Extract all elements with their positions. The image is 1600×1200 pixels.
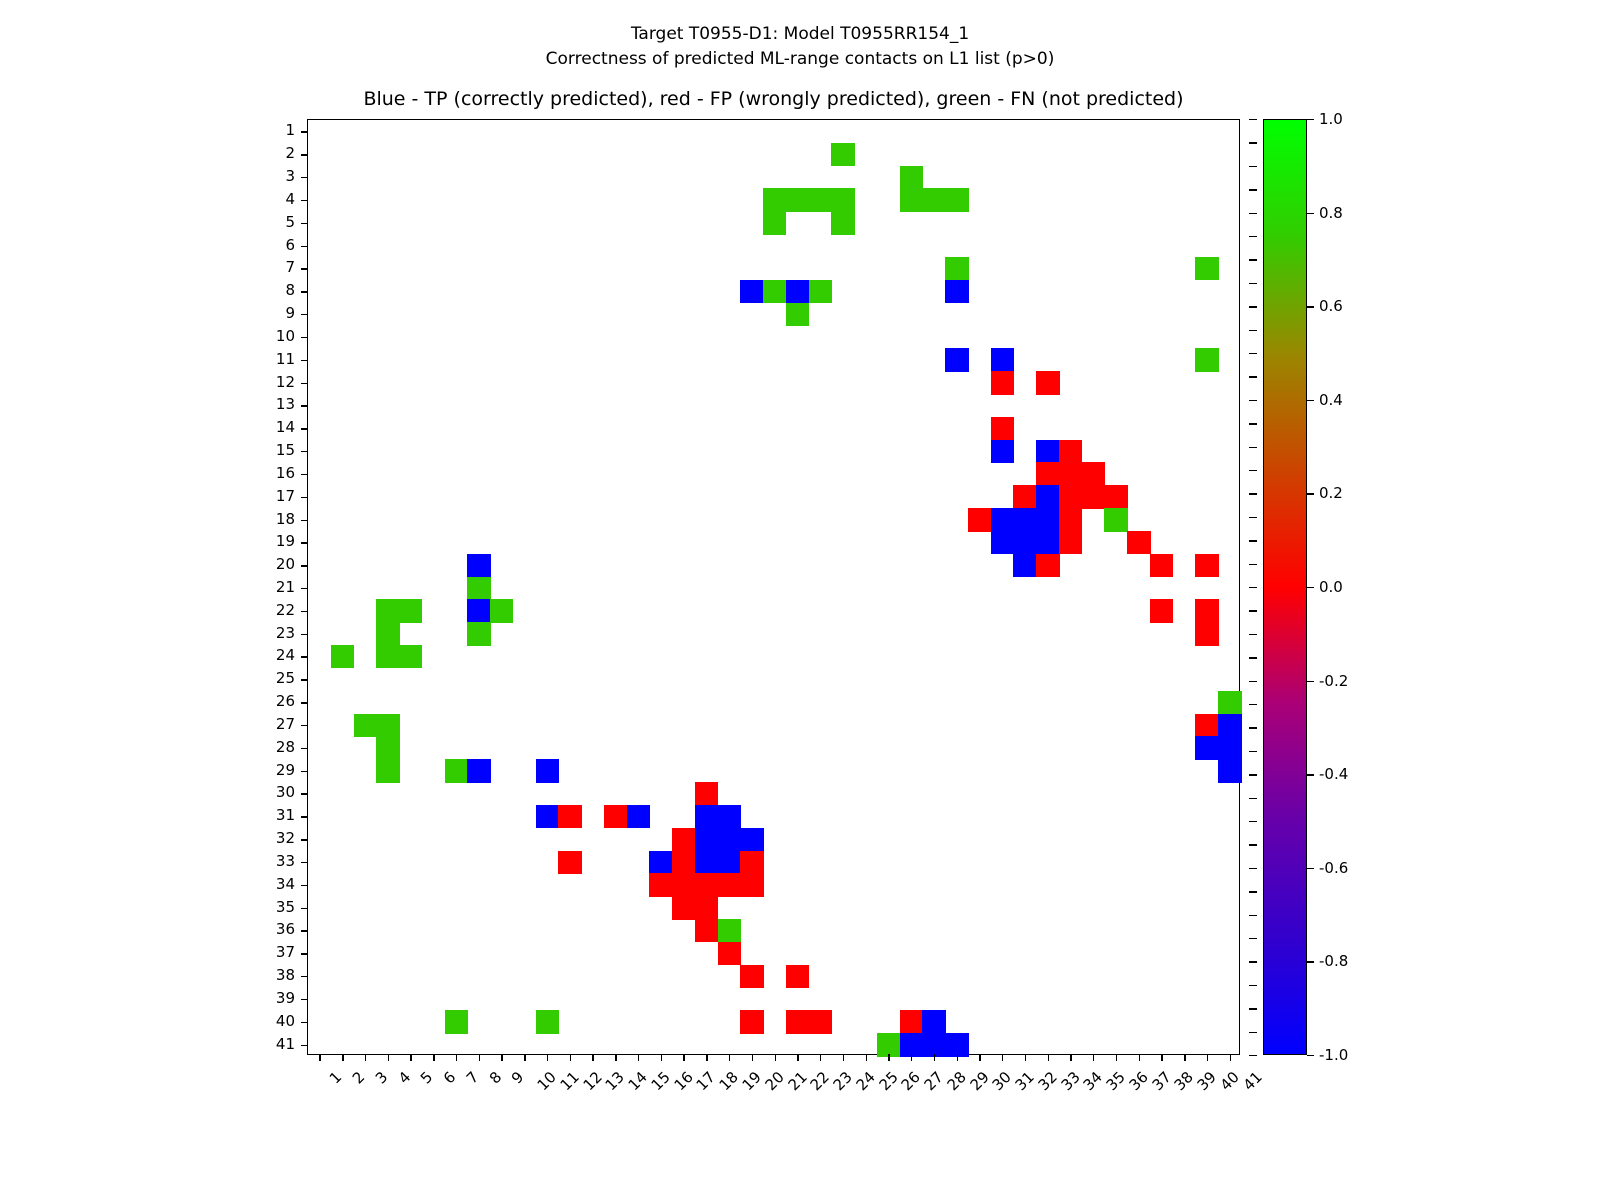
heatmap-cell [1218,736,1241,759]
x-tick [1070,1054,1071,1061]
y-tick-label: 34 [251,875,295,893]
y-tick-label: 40 [251,1012,295,1030]
y-tick [301,451,308,452]
heatmap-cell [376,714,399,737]
heatmap-cell [945,348,968,371]
x-tick-label: 6 [440,1068,459,1087]
heatmap-cell [399,599,422,622]
x-tick-label: 7 [463,1068,482,1087]
y-tick-label: 27 [251,715,295,733]
colorbar-tick-label: 1.0 [1319,110,1343,128]
minor-tick [1249,961,1257,962]
y-tick [301,611,308,612]
minor-tick [1249,891,1257,892]
heatmap-cell [354,714,377,737]
minor-tick [1249,657,1257,658]
heatmap-cell [945,188,968,211]
y-tick-label: 14 [251,418,295,436]
heatmap-cell [1059,462,1082,485]
minor-tick [1249,844,1257,845]
minor-tick [1249,259,1257,260]
x-tick [1048,1054,1049,1061]
contact-map-plot[interactable] [307,119,1240,1055]
y-tick [301,748,308,749]
heatmap-cell [1036,485,1059,508]
y-tick [301,428,308,429]
heatmap-cell [467,599,490,622]
colorbar-tick-label: 0.0 [1319,578,1343,596]
y-tick [301,999,308,1000]
x-tick [1230,1054,1231,1061]
colorbar-tick-label: 0.4 [1319,391,1343,409]
minor-tick [1249,774,1257,775]
heatmap-cell [467,759,490,782]
heatmap-cell [490,599,513,622]
y-tick-label: 17 [251,487,295,505]
x-tick [934,1054,935,1061]
minor-tick [1249,681,1257,682]
heatmap-cell [991,508,1014,531]
y-tick [301,497,308,498]
minor-tick [1249,704,1257,705]
heatmap-cell [536,805,559,828]
y-tick [301,702,308,703]
x-tick [592,1054,593,1061]
heatmap-cell [900,166,923,189]
x-tick [456,1054,457,1061]
heatmap-cell [786,303,809,326]
figure-canvas: Target T0955-D1: Model T0955RR154_1 Corr… [0,0,1600,1200]
colorbar-tick [1307,961,1314,962]
minor-tick [1249,1055,1257,1056]
heatmap-cell [604,805,627,828]
suptitle-line-2: Correctness of predicted ML-range contac… [0,47,1600,72]
heatmap-cell [740,851,763,874]
x-tick [342,1054,343,1061]
figure-suptitle: Target T0955-D1: Model T0955RR154_1 Corr… [0,22,1600,71]
heatmap-cell [740,873,763,896]
x-tick [888,1054,889,1061]
heatmap-cell [376,645,399,668]
y-tick-label: 25 [251,669,295,687]
y-tick [301,474,308,475]
y-tick-label: 33 [251,852,295,870]
heatmap-cell [763,280,786,303]
minor-tick [1249,610,1257,611]
heatmap-cell [536,759,559,782]
x-tick [797,1054,798,1061]
minor-tick [1249,447,1257,448]
x-tick-label: 1 [326,1068,345,1087]
y-tick-label: 18 [251,510,295,528]
minor-tick [1249,751,1257,752]
y-tick [301,200,308,201]
x-tick [1139,1054,1140,1061]
x-tick [775,1054,776,1061]
heatmap-cell [1195,257,1218,280]
y-tick-label: 29 [251,761,295,779]
heatmap-cell [558,851,581,874]
y-tick [301,588,308,589]
minor-tick [1249,634,1257,635]
heatmap-cell [763,188,786,211]
x-tick-label: 41 [1239,1068,1265,1094]
x-tick [1184,1054,1185,1061]
heatmap-cell [376,736,399,759]
y-tick [301,725,308,726]
y-tick [301,771,308,772]
x-tick [911,1054,912,1061]
minor-tick [1249,564,1257,565]
y-tick-label: 15 [251,441,295,459]
y-tick [301,337,308,338]
heatmap-cell [627,805,650,828]
x-tick [1002,1054,1003,1061]
x-tick [706,1054,707,1061]
x-tick-label: 4 [394,1068,413,1087]
heatmap-cell [718,873,741,896]
x-tick [615,1054,616,1061]
heatmap-cell [695,805,718,828]
heatmap-cell [1059,440,1082,463]
heatmap-cell [1127,531,1150,554]
y-tick [301,976,308,977]
heatmap-cell [1104,485,1127,508]
colorbar-tick [1307,306,1314,307]
minor-tick [1249,236,1257,237]
heatmap-cell [695,896,718,919]
heatmap-cell [922,188,945,211]
x-tick [1116,1054,1117,1061]
y-tick [301,154,308,155]
x-tick [843,1054,844,1061]
minor-tick [1249,915,1257,916]
heatmap-cell [1195,348,1218,371]
y-tick-label: 11 [251,350,295,368]
y-tick-label: 30 [251,783,295,801]
heatmap-cell [331,645,354,668]
colorbar-tick-label: 0.6 [1319,297,1343,315]
heatmap-cell [1150,599,1173,622]
heatmap-cell [695,782,718,805]
heatmap-cell [922,1010,945,1033]
colorbar-tick-label: -0.2 [1319,672,1348,690]
heatmap-cell [649,851,672,874]
x-tick [1207,1054,1208,1061]
y-tick-label: 13 [251,395,295,413]
heatmap-cell [991,348,1014,371]
heatmap-cell [1013,554,1036,577]
x-tick [388,1054,389,1061]
y-tick-label: 26 [251,692,295,710]
y-tick-label: 32 [251,829,295,847]
heatmap-cell [1036,440,1059,463]
heatmap-cell [809,188,832,211]
y-tick [301,268,308,269]
y-tick-label: 16 [251,464,295,482]
heatmap-cell [467,622,490,645]
y-tick [301,291,308,292]
heatmap-cell [1059,485,1082,508]
y-tick-label: 41 [251,1035,295,1053]
heatmap-cell [649,873,672,896]
minor-tick [1249,821,1257,822]
minor-tick [1249,798,1257,799]
colorbar-tick-label: 0.8 [1319,204,1343,222]
y-tick-label: 23 [251,624,295,642]
y-tick-label: 28 [251,738,295,756]
axes-title: Blue - TP (correctly predicted), red - F… [307,88,1240,110]
minor-tick [1249,1032,1257,1033]
heatmap-cell [968,508,991,531]
y-tick-label: 35 [251,898,295,916]
minor-tick [1249,470,1257,471]
minor-tick [1249,423,1257,424]
heatmap-cell [1036,371,1059,394]
x-tick [410,1054,411,1061]
x-tick [957,1054,958,1061]
heatmap-cell [1218,759,1241,782]
heatmap-cell [1082,462,1105,485]
colorbar-tick [1307,868,1314,869]
y-tick-label: 19 [251,532,295,550]
y-tick-label: 3 [251,167,295,185]
y-tick-label: 2 [251,144,295,162]
y-tick [301,520,308,521]
minor-tick [1249,727,1257,728]
minor-tick [1249,587,1257,588]
suptitle-line-1: Target T0955-D1: Model T0955RR154_1 [631,24,969,44]
x-tick-label: 3 [372,1068,391,1087]
heatmap-cell [1218,714,1241,737]
heatmap-cell [831,211,854,234]
y-tick-label: 1 [251,121,295,139]
colorbar-tick-label: -0.4 [1319,765,1348,783]
y-tick [301,1022,308,1023]
y-tick [301,177,308,178]
y-tick-label: 12 [251,373,295,391]
heatmap-cell [695,851,718,874]
heatmap-cell [786,280,809,303]
colorbar-tick [1307,493,1314,494]
y-tick [301,1045,308,1046]
x-tick-label: 8 [485,1068,504,1087]
y-tick [301,885,308,886]
y-tick-label: 20 [251,555,295,573]
y-tick [301,816,308,817]
heatmap-cell [1059,531,1082,554]
colorbar[interactable]: 1.00.80.60.40.20.0-0.2-0.4-0.6-0.8-1.0 [1263,119,1307,1055]
heatmap-cell [1036,508,1059,531]
minor-tick [1249,400,1257,401]
minor-tick [1249,306,1257,307]
x-tick [365,1054,366,1061]
colorbar-tick-label: -0.6 [1319,859,1348,877]
minor-tick [1249,985,1257,986]
heatmap-cell [536,1010,559,1033]
minor-tick [1249,353,1257,354]
heatmap-cell [1082,485,1105,508]
minor-tick [1249,213,1257,214]
y-tick-label: 37 [251,943,295,961]
heatmap-cell [1195,599,1218,622]
y-tick [301,793,308,794]
x-tick [1025,1054,1026,1061]
heatmap-cell [831,143,854,166]
minor-tick [1249,119,1257,120]
x-tick [479,1054,480,1061]
heatmap-cell [831,188,854,211]
y-tick-label: 36 [251,920,295,938]
heatmap-cell [695,919,718,942]
y-tick [301,131,308,132]
heatmap-cell [740,965,763,988]
y-tick-label: 10 [251,327,295,345]
colorbar-tick [1307,213,1314,214]
heatmap-cell [991,531,1014,554]
x-tick [524,1054,525,1061]
y-tick-label: 9 [251,304,295,322]
y-tick-label: 24 [251,646,295,664]
heatmap-cell [1195,736,1218,759]
heatmap-cell [1150,554,1173,577]
minor-tick [1249,189,1257,190]
heatmap-cell [809,280,832,303]
x-tick [866,1054,867,1061]
y-tick-label: 4 [251,190,295,208]
heatmap-cell [1036,462,1059,485]
axis-minor-ticks [1249,119,1257,1055]
x-tick [1093,1054,1094,1061]
heatmap-cell [376,622,399,645]
heatmap-cell [991,440,1014,463]
y-tick [301,542,308,543]
heatmap-cell [900,188,923,211]
x-tick [820,1054,821,1061]
x-tick-label: 2 [349,1068,368,1087]
heatmap-cell [945,257,968,280]
minor-tick [1249,517,1257,518]
heatmap-cell [740,828,763,851]
heatmap-cell [445,1010,468,1033]
heatmap-cell [1195,622,1218,645]
y-tick-label: 39 [251,989,295,1007]
heatmap-cell [718,805,741,828]
minor-tick [1249,283,1257,284]
colorbar-tick [1307,1055,1314,1056]
colorbar-tick [1307,400,1314,401]
colorbar-tick-label: -0.8 [1319,952,1348,970]
y-tick [301,223,308,224]
heatmap-cell [786,188,809,211]
x-tick [979,1054,980,1061]
colorbar-tick-label: 0.2 [1319,484,1343,502]
heatmap-cell [991,371,1014,394]
heatmap-cell [1013,508,1036,531]
heatmap-cell [763,211,786,234]
heatmap-cell [695,828,718,851]
minor-tick [1249,376,1257,377]
x-tick-label: 5 [417,1068,436,1087]
y-tick [301,930,308,931]
x-tick [1161,1054,1162,1061]
x-tick [638,1054,639,1061]
colorbar-tick [1307,681,1314,682]
minor-tick [1249,493,1257,494]
colorbar-tick [1307,587,1314,588]
minor-tick [1249,142,1257,143]
heatmap-cell [1195,554,1218,577]
heatmap-cell [672,828,695,851]
heatmap-cell [740,1010,763,1033]
heatmap-cell [786,1010,809,1033]
minor-tick [1249,1008,1257,1009]
y-tick-label: 8 [251,281,295,299]
x-tick [501,1054,502,1061]
heatmap-cell [695,873,718,896]
y-tick [301,656,308,657]
heatmap-cell [786,965,809,988]
heatmap-cell [1059,508,1082,531]
x-tick-label: 9 [508,1068,527,1087]
x-tick [661,1054,662,1061]
y-tick [301,565,308,566]
y-tick [301,405,308,406]
heatmap-cell [467,554,490,577]
heatmap-cell [718,919,741,942]
y-tick [301,953,308,954]
heatmap-cell [445,759,468,782]
heatmap-cell [1104,508,1127,531]
x-tick [547,1054,548,1061]
x-tick [683,1054,684,1061]
colorbar-tick-label: -1.0 [1319,1046,1348,1064]
heatmap-cell [740,280,763,303]
colorbar-tick [1307,774,1314,775]
heatmap-cell [718,851,741,874]
heatmap-cell [945,280,968,303]
heatmap-cell [1013,531,1036,554]
heatmap-cell [1036,554,1059,577]
minor-tick [1249,330,1257,331]
heatmap-cell [672,873,695,896]
heatmap-cell [1013,485,1036,508]
heatmap-cell [376,759,399,782]
x-tick [570,1054,571,1061]
heatmap-cell [558,805,581,828]
heatmap-cell [376,599,399,622]
y-tick [301,360,308,361]
heatmap-cell [991,417,1014,440]
y-tick [301,839,308,840]
heatmap-cell [672,851,695,874]
colorbar-gradient [1263,119,1307,1055]
heatmap-cell [900,1010,923,1033]
y-tick [301,246,308,247]
y-tick-label: 7 [251,258,295,276]
minor-tick [1249,166,1257,167]
minor-tick [1249,938,1257,939]
minor-tick [1249,868,1257,869]
y-tick [301,383,308,384]
y-tick [301,314,308,315]
y-tick-label: 21 [251,578,295,596]
heatmap-cell [1218,691,1241,714]
heatmap-cell [1036,531,1059,554]
y-tick-label: 5 [251,213,295,231]
heatmap-cell [1195,714,1218,737]
colorbar-tick [1307,119,1314,120]
